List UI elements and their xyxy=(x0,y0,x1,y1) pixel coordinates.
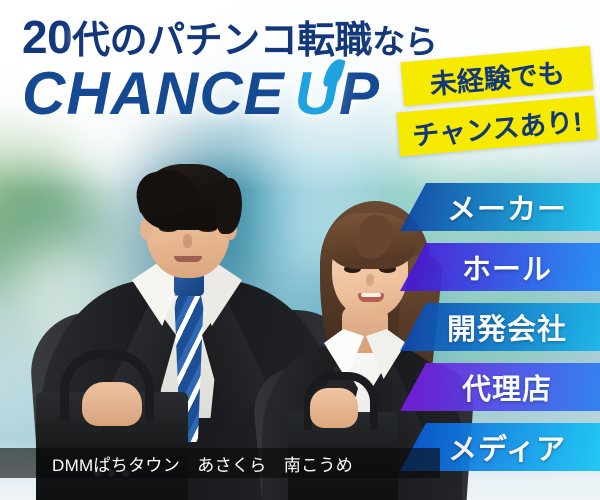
caption-text: DMMぱちタウン あさくら 南こうめ xyxy=(0,451,353,476)
category-label-hall: ホール xyxy=(448,246,552,288)
caption-bar: DMMぱちタウン あさくら 南こうめ xyxy=(0,448,440,478)
category-item-hall[interactable]: ホール xyxy=(400,243,600,291)
highlight-badge-group: 未経験でも チャンスあり! xyxy=(398,52,598,157)
badge-band-chance: チャンスあり! xyxy=(396,95,597,156)
category-label-developer: 開発会社 xyxy=(433,306,567,348)
logo-word-chance: CHANCE xyxy=(22,60,285,127)
headline-age-number: 20 xyxy=(22,11,72,63)
logo-letter-p: P xyxy=(339,60,380,127)
category-banner-list: メーカー ホール 開発会社 代理店 メディア xyxy=(400,183,600,471)
headline-line-1: 20代のパチンコ転職なら xyxy=(22,14,437,60)
headline-group: 20代のパチンコ転職なら CHANCEUP xyxy=(22,14,437,124)
category-item-developer[interactable]: 開発会社 xyxy=(400,303,600,351)
headline-line-1-main: 代のパチンコ転職 xyxy=(72,20,372,62)
advertisement-banner[interactable]: 20代のパチンコ転職なら CHANCEUP 未経験でも チャンスあり! メーカー… xyxy=(0,0,600,500)
category-label-maker: メーカー xyxy=(433,186,567,228)
logo-letter-u: U xyxy=(295,64,339,124)
businessman-hand xyxy=(82,382,142,426)
category-label-media: メディア xyxy=(434,426,566,468)
logo-chance-up: CHANCEUP xyxy=(22,64,437,124)
category-label-agency: 代理店 xyxy=(448,366,552,408)
category-item-maker[interactable]: メーカー xyxy=(400,183,600,231)
businesswoman-hand xyxy=(310,388,358,428)
category-item-agency[interactable]: 代理店 xyxy=(400,363,600,411)
